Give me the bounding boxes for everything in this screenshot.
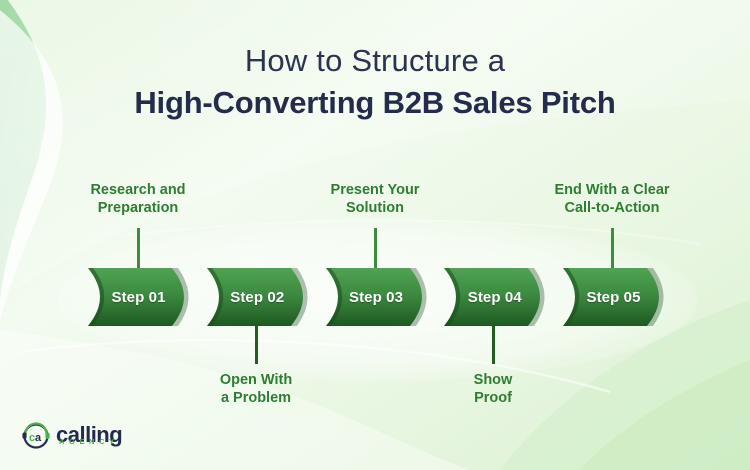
step-badge-04: Step 04 <box>442 266 547 328</box>
step-badge-05: Step 05 <box>561 266 666 328</box>
connector-stem-step-03 <box>374 228 377 270</box>
connector-stem-step-05 <box>611 228 614 270</box>
caption-step-05-line-2: Call-to-Action <box>527 199 697 217</box>
logo-wordmark: calling AGENCY <box>56 424 122 446</box>
page-title-line-2: High-Converting B2B Sales Pitch <box>0 86 750 119</box>
caption-step-04: Show Proof <box>408 371 578 407</box>
logo-word-agency: AGENCY <box>59 438 119 446</box>
step-badge-01: Step 01 <box>86 266 191 328</box>
headset-circle-ca-icon: c a <box>20 420 52 450</box>
caption-step-02-line-2: a Problem <box>171 389 341 407</box>
caption-step-02-line-1: Open With <box>171 371 341 389</box>
step-badge-03: Step 03 <box>324 266 429 328</box>
caption-step-03-line-2: Solution <box>290 199 460 217</box>
step-item-05[interactable]: Step 05 <box>561 266 666 328</box>
caption-step-04-line-1: Show <box>408 371 578 389</box>
connector-stem-step-02 <box>255 322 258 364</box>
caption-step-03-line-1: Present Your <box>290 181 460 199</box>
caption-step-05: End With a Clear Call-to-Action <box>527 181 697 217</box>
step-badge-02: Step 02 <box>205 266 310 328</box>
svg-text:a: a <box>35 432 42 444</box>
connector-stem-step-04 <box>492 322 495 364</box>
infographic-canvas: How to Structure a High-Converting B2B S… <box>0 0 750 470</box>
caption-step-01-line-2: Preparation <box>53 199 223 217</box>
connector-stem-step-01 <box>137 228 140 270</box>
caption-step-01-line-1: Research and <box>53 181 223 199</box>
caption-step-03: Present Your Solution <box>290 181 460 217</box>
caption-step-02: Open With a Problem <box>171 371 341 407</box>
page-title-line-1: How to Structure a <box>0 44 750 77</box>
steps-row: Step 01 Step 02 Step 03 St <box>86 266 666 328</box>
caption-step-01: Research and Preparation <box>53 181 223 217</box>
header: How to Structure a High-Converting B2B S… <box>0 44 750 120</box>
step-item-03[interactable]: Step 03 <box>324 266 429 328</box>
step-item-01[interactable]: Step 01 <box>86 266 191 328</box>
caption-step-04-line-2: Proof <box>408 389 578 407</box>
step-item-04[interactable]: Step 04 <box>442 266 547 328</box>
caption-step-05-line-1: End With a Clear <box>527 181 697 199</box>
step-item-02[interactable]: Step 02 <box>205 266 310 328</box>
brand-logo[interactable]: c a calling AGENCY <box>20 420 122 450</box>
